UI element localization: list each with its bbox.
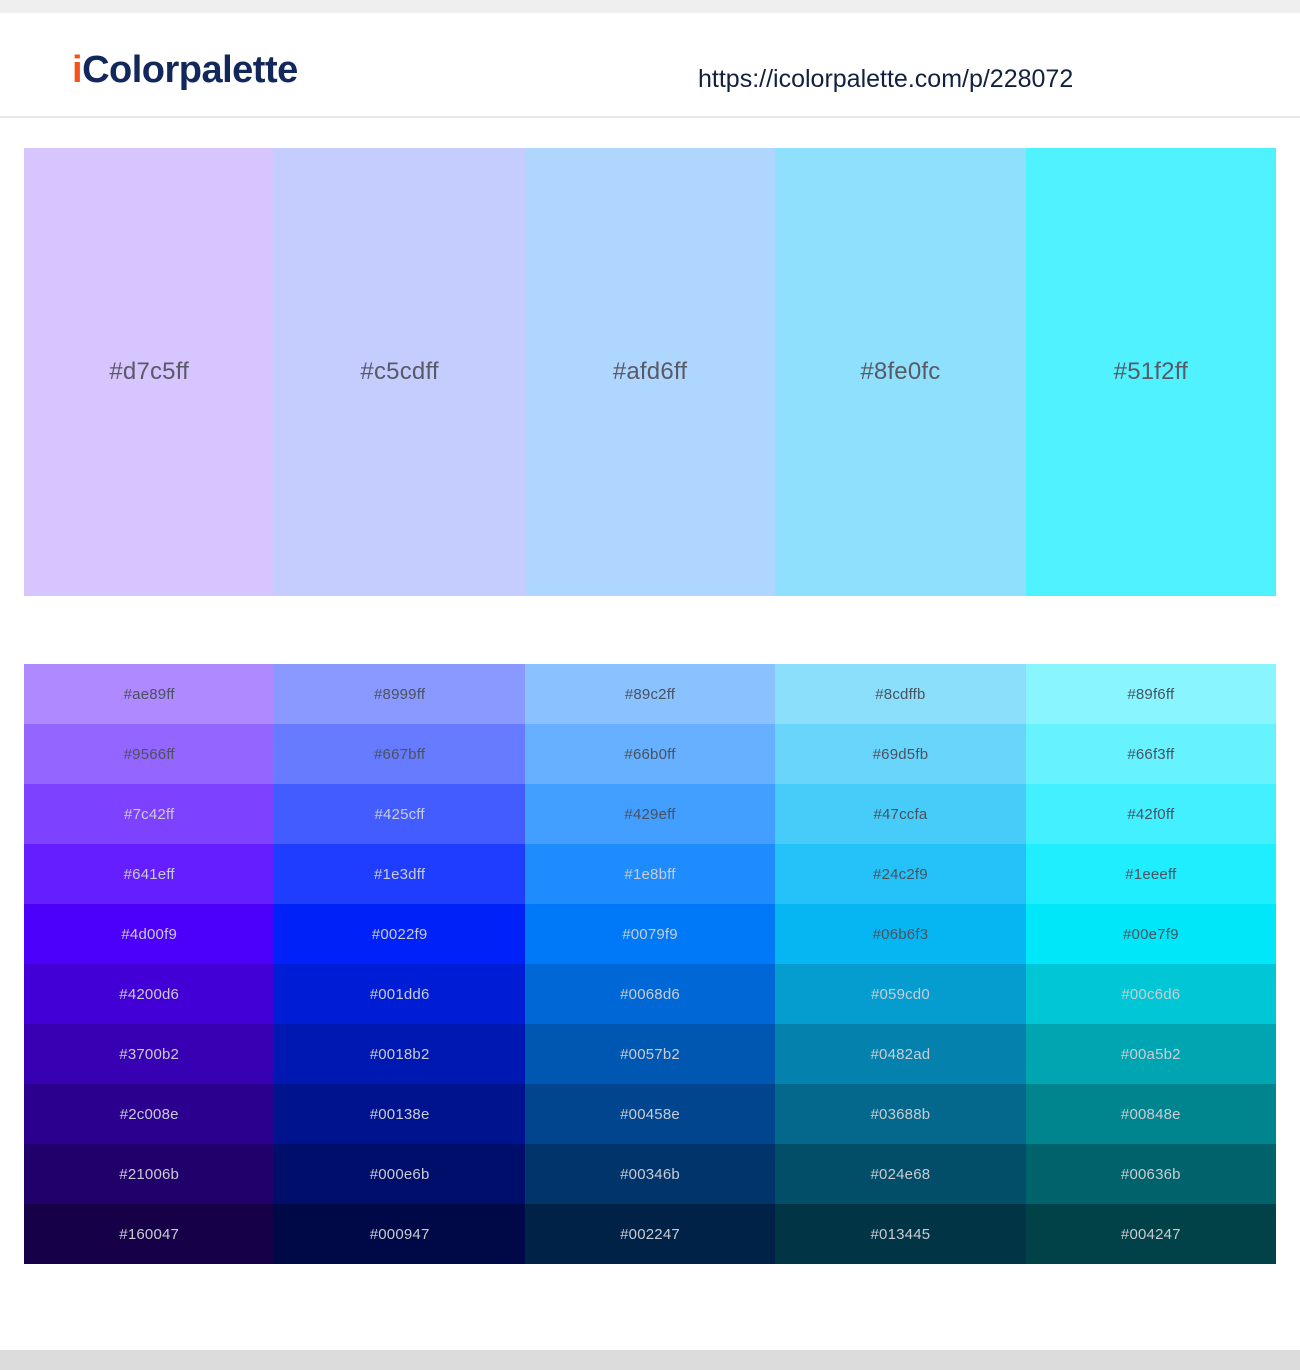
shade-label: #1e3dff bbox=[374, 866, 425, 883]
shade-cell[interactable]: #42f0ff bbox=[1026, 784, 1276, 844]
shade-label: #0018b2 bbox=[370, 1046, 430, 1063]
main-palette-strip: #d7c5ff#c5cdff#afd6ff#8fe0fc#51f2ff bbox=[24, 148, 1276, 596]
shade-label: #1eeeff bbox=[1125, 866, 1176, 883]
main-swatch[interactable]: #51f2ff bbox=[1026, 148, 1276, 596]
shade-cell[interactable]: #0079f9 bbox=[525, 904, 775, 964]
shade-label: #21006b bbox=[119, 1166, 179, 1183]
shade-cell[interactable]: #429eff bbox=[525, 784, 775, 844]
shade-label: #00848e bbox=[1121, 1106, 1181, 1123]
shade-label: #47ccfa bbox=[873, 806, 927, 823]
shade-cell[interactable]: #0018b2 bbox=[274, 1024, 524, 1084]
shade-label: #ae89ff bbox=[124, 686, 175, 703]
shade-row: #160047#000947#002247#013445#004247 bbox=[24, 1204, 1276, 1264]
shade-label: #42f0ff bbox=[1127, 806, 1174, 823]
shade-cell[interactable]: #66f3ff bbox=[1026, 724, 1276, 784]
shade-label: #001dd6 bbox=[370, 986, 430, 1003]
shade-label: #00458e bbox=[620, 1106, 680, 1123]
shade-label: #0057b2 bbox=[620, 1046, 680, 1063]
shade-cell[interactable]: #00e7f9 bbox=[1026, 904, 1276, 964]
main-swatch[interactable]: #d7c5ff bbox=[24, 148, 274, 596]
main-swatch-label: #d7c5ff bbox=[109, 358, 189, 386]
shade-label: #002247 bbox=[620, 1226, 680, 1243]
shade-cell[interactable]: #000e6b bbox=[274, 1144, 524, 1204]
shade-label: #69d5fb bbox=[873, 746, 929, 763]
shade-cell[interactable]: #2c008e bbox=[24, 1084, 274, 1144]
shade-label: #004247 bbox=[1121, 1226, 1181, 1243]
shade-cell[interactable]: #00c6d6 bbox=[1026, 964, 1276, 1024]
shade-label: #00138e bbox=[370, 1106, 430, 1123]
shade-cell[interactable]: #89f6ff bbox=[1026, 664, 1276, 724]
shade-cell[interactable]: #89c2ff bbox=[525, 664, 775, 724]
shade-cell[interactable]: #24c2f9 bbox=[775, 844, 1025, 904]
shade-label: #160047 bbox=[119, 1226, 179, 1243]
shade-cell[interactable]: #000947 bbox=[274, 1204, 524, 1264]
shade-cell[interactable]: #0022f9 bbox=[274, 904, 524, 964]
shade-label: #024e68 bbox=[871, 1166, 931, 1183]
shade-label: #059cd0 bbox=[871, 986, 930, 1003]
shade-cell[interactable]: #425cff bbox=[274, 784, 524, 844]
shade-cell[interactable]: #00346b bbox=[525, 1144, 775, 1204]
shade-cell[interactable]: #00a5b2 bbox=[1026, 1024, 1276, 1084]
shade-cell[interactable]: #21006b bbox=[24, 1144, 274, 1204]
shade-cell[interactable]: #ae89ff bbox=[24, 664, 274, 724]
shade-row: #3700b2#0018b2#0057b2#0482ad#00a5b2 bbox=[24, 1024, 1276, 1084]
shade-cell[interactable]: #66b0ff bbox=[525, 724, 775, 784]
shade-row: #641eff#1e3dff#1e8bff#24c2f9#1eeeff bbox=[24, 844, 1276, 904]
shade-cell[interactable]: #1eeeff bbox=[1026, 844, 1276, 904]
shade-cell[interactable]: #013445 bbox=[775, 1204, 1025, 1264]
main-swatch[interactable]: #8fe0fc bbox=[775, 148, 1025, 596]
shade-cell[interactable]: #4200d6 bbox=[24, 964, 274, 1024]
main-swatch[interactable]: #afd6ff bbox=[525, 148, 775, 596]
shade-label: #00a5b2 bbox=[1121, 1046, 1181, 1063]
shade-cell[interactable]: #4d00f9 bbox=[24, 904, 274, 964]
site-logo[interactable]: iColorpalette bbox=[72, 51, 298, 89]
shade-label: #641eff bbox=[124, 866, 175, 883]
logo-text: Colorpalette bbox=[82, 49, 298, 91]
shade-cell[interactable]: #059cd0 bbox=[775, 964, 1025, 1024]
shade-grid: #ae89ff#8999ff#89c2ff#8cdffb#89f6ff#9566… bbox=[24, 664, 1276, 1264]
shade-label: #0079f9 bbox=[622, 926, 678, 943]
shade-cell[interactable]: #03688b bbox=[775, 1084, 1025, 1144]
shade-cell[interactable]: #3700b2 bbox=[24, 1024, 274, 1084]
shade-cell[interactable]: #00138e bbox=[274, 1084, 524, 1144]
shade-cell[interactable]: #06b6f3 bbox=[775, 904, 1025, 964]
shade-cell[interactable]: #001dd6 bbox=[274, 964, 524, 1024]
shade-label: #89c2ff bbox=[625, 686, 675, 703]
shade-cell[interactable]: #7c42ff bbox=[24, 784, 274, 844]
shade-cell[interactable]: #0068d6 bbox=[525, 964, 775, 1024]
shade-cell[interactable]: #024e68 bbox=[775, 1144, 1025, 1204]
main-swatch-label: #afd6ff bbox=[613, 358, 687, 386]
shade-cell[interactable]: #47ccfa bbox=[775, 784, 1025, 844]
shade-row: #4d00f9#0022f9#0079f9#06b6f3#00e7f9 bbox=[24, 904, 1276, 964]
main-swatch-label: #8fe0fc bbox=[860, 358, 940, 386]
shade-label: #7c42ff bbox=[124, 806, 174, 823]
top-gray-strip bbox=[0, 0, 1300, 13]
color-palette-page: iColorpalette https://icolorpalette.com/… bbox=[0, 0, 1300, 1370]
bottom-gray-strip bbox=[0, 1350, 1300, 1370]
shade-cell[interactable]: #667bff bbox=[274, 724, 524, 784]
shade-cell[interactable]: #8cdffb bbox=[775, 664, 1025, 724]
shade-cell[interactable]: #00458e bbox=[525, 1084, 775, 1144]
shade-cell[interactable]: #9566ff bbox=[24, 724, 274, 784]
shade-cell[interactable]: #69d5fb bbox=[775, 724, 1025, 784]
palette-url[interactable]: https://icolorpalette.com/p/228072 bbox=[698, 63, 1073, 96]
shade-cell[interactable]: #1e8bff bbox=[525, 844, 775, 904]
shade-row: #ae89ff#8999ff#89c2ff#8cdffb#89f6ff bbox=[24, 664, 1276, 724]
main-swatch-label: #c5cdff bbox=[360, 358, 438, 386]
shade-cell[interactable]: #00636b bbox=[1026, 1144, 1276, 1204]
main-swatch[interactable]: #c5cdff bbox=[274, 148, 524, 596]
shade-label: #013445 bbox=[871, 1226, 931, 1243]
shade-cell[interactable]: #160047 bbox=[24, 1204, 274, 1264]
shade-row: #9566ff#667bff#66b0ff#69d5fb#66f3ff bbox=[24, 724, 1276, 784]
main-swatch-label: #51f2ff bbox=[1114, 358, 1188, 386]
shade-cell[interactable]: #002247 bbox=[525, 1204, 775, 1264]
shade-label: #3700b2 bbox=[119, 1046, 179, 1063]
shade-cell[interactable]: #004247 bbox=[1026, 1204, 1276, 1264]
shade-row: #4200d6#001dd6#0068d6#059cd0#00c6d6 bbox=[24, 964, 1276, 1024]
shade-label: #03688b bbox=[871, 1106, 931, 1123]
shade-label: #000947 bbox=[370, 1226, 430, 1243]
shade-cell[interactable]: #641eff bbox=[24, 844, 274, 904]
shade-row: #7c42ff#425cff#429eff#47ccfa#42f0ff bbox=[24, 784, 1276, 844]
shade-label: #4d00f9 bbox=[121, 926, 177, 943]
shade-cell[interactable]: #00848e bbox=[1026, 1084, 1276, 1144]
shade-label: #667bff bbox=[374, 746, 425, 763]
shade-label: #0022f9 bbox=[372, 926, 428, 943]
shade-label: #8cdffb bbox=[875, 686, 925, 703]
shade-row: #21006b#000e6b#00346b#024e68#00636b bbox=[24, 1144, 1276, 1204]
shade-label: #1e8bff bbox=[624, 866, 675, 883]
shade-label: #2c008e bbox=[120, 1106, 179, 1123]
shade-cell[interactable]: #0057b2 bbox=[525, 1024, 775, 1084]
shade-label: #00c6d6 bbox=[1121, 986, 1180, 1003]
shade-label: #9566ff bbox=[124, 746, 175, 763]
shade-label: #06b6f3 bbox=[873, 926, 929, 943]
shade-cell[interactable]: #1e3dff bbox=[274, 844, 524, 904]
shade-label: #89f6ff bbox=[1127, 686, 1174, 703]
shade-row: #2c008e#00138e#00458e#03688b#00848e bbox=[24, 1084, 1276, 1144]
logo-accent-letter: i bbox=[72, 49, 82, 91]
shade-label: #00346b bbox=[620, 1166, 680, 1183]
shade-label: #24c2f9 bbox=[873, 866, 928, 883]
shade-label: #66f3ff bbox=[1127, 746, 1174, 763]
shade-cell[interactable]: #8999ff bbox=[274, 664, 524, 724]
shade-label: #4200d6 bbox=[119, 986, 179, 1003]
shade-label: #00e7f9 bbox=[1123, 926, 1179, 943]
shade-label: #429eff bbox=[624, 806, 675, 823]
shade-label: #8999ff bbox=[374, 686, 425, 703]
site-header: iColorpalette https://icolorpalette.com/… bbox=[0, 13, 1300, 118]
shade-label: #0482ad bbox=[871, 1046, 931, 1063]
shade-label: #000e6b bbox=[370, 1166, 430, 1183]
shade-label: #425cff bbox=[374, 806, 424, 823]
shade-label: #66b0ff bbox=[624, 746, 675, 763]
shade-label: #00636b bbox=[1121, 1166, 1181, 1183]
shade-label: #0068d6 bbox=[620, 986, 680, 1003]
shade-cell[interactable]: #0482ad bbox=[775, 1024, 1025, 1084]
